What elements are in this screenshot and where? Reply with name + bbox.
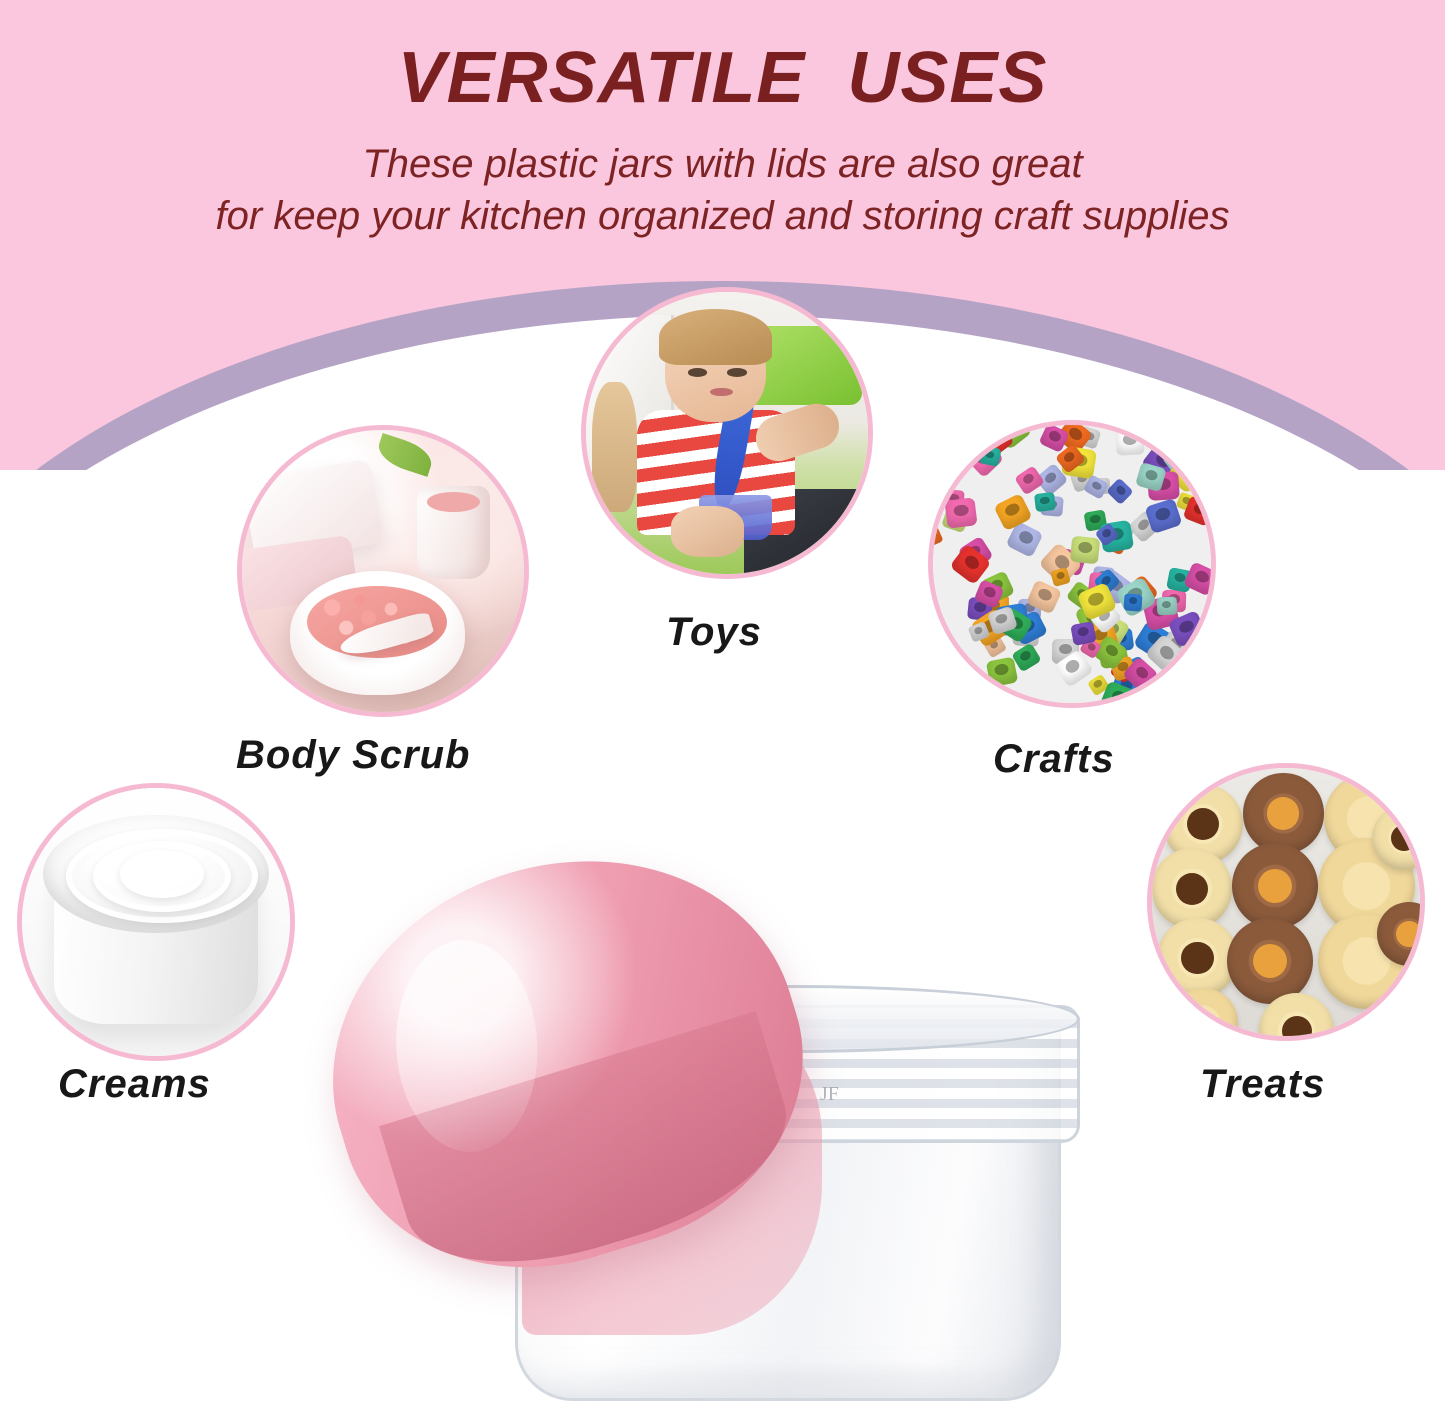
cookie (1243, 773, 1323, 853)
badge-treats (1152, 768, 1420, 1036)
craft-bead (1183, 561, 1211, 597)
craft-bead (1070, 621, 1097, 646)
cream-swirl-inner (120, 850, 204, 897)
craft-bead (978, 445, 1001, 467)
cookie-center (1391, 825, 1417, 851)
body-scrub-photo (242, 430, 524, 712)
cookie (1152, 848, 1232, 928)
crafts-beads-photo (933, 425, 1211, 703)
cream-surface-shape (43, 815, 268, 933)
badge-crafts (933, 425, 1211, 703)
cookie-center (1187, 808, 1219, 840)
badge-toys (586, 292, 868, 574)
caption-creams: Creams (58, 1062, 211, 1107)
product-jar-image: JF (300, 855, 1120, 1400)
craft-bead (1123, 593, 1142, 611)
cookie-center (1282, 1016, 1312, 1036)
craft-bead (1197, 470, 1211, 488)
cookie (1157, 918, 1237, 998)
child-mouth-shape (710, 388, 733, 396)
child-hair-shape (659, 309, 772, 365)
vase-shape (417, 486, 490, 579)
craft-bead (1011, 642, 1042, 672)
craft-bead (1070, 536, 1101, 565)
sibling-hair-shape (592, 382, 637, 512)
bowl-shape (290, 571, 465, 695)
caption-body-scrub: Body Scrub (236, 733, 470, 778)
creams-photo (22, 788, 290, 1056)
subtitle-line-2: for keep your kitchen organized and stor… (0, 190, 1445, 242)
cookie-center (1267, 797, 1299, 829)
toys-photo (586, 292, 868, 574)
caption-toys: Toys (666, 610, 762, 655)
child-eye-left (688, 368, 708, 376)
treats-cookies-photo (1152, 768, 1420, 1036)
craft-bead (1193, 648, 1211, 677)
subtitle-line-1: These plastic jars with lids are also gr… (362, 142, 1082, 186)
badge-body-scrub (242, 430, 524, 712)
page-subtitle: These plastic jars with lids are also gr… (0, 138, 1445, 242)
page-title: VERSATILE USES (0, 40, 1445, 116)
cookie (1232, 843, 1318, 929)
badge-creams (22, 788, 290, 1056)
craft-bead (1014, 465, 1044, 495)
caption-crafts: Crafts (993, 737, 1115, 782)
infographic-page: VERSATILE USES These plastic jars with l… (0, 0, 1445, 1409)
craft-bead (1156, 596, 1177, 615)
cookie-center (1181, 942, 1213, 974)
child-eye-right (727, 368, 747, 376)
caption-treats: Treats (1200, 1062, 1325, 1107)
child-arm-shape (750, 398, 844, 467)
cookie-center (1258, 869, 1292, 903)
cookie-center (1253, 944, 1287, 978)
cookie-center (1396, 921, 1420, 947)
craft-bead (1115, 428, 1145, 455)
craft-bead (1034, 492, 1056, 512)
cookie (1227, 918, 1313, 1004)
craft-bead (944, 497, 978, 528)
craft-bead (933, 526, 943, 547)
leaf-shape (374, 433, 436, 477)
craft-bead (986, 657, 1019, 688)
cookie (1168, 988, 1238, 1036)
child-hand-shape (671, 506, 744, 557)
craft-bead (933, 444, 960, 487)
cookie-center (1176, 873, 1208, 905)
craft-bead (1106, 477, 1133, 504)
craft-bead (933, 642, 943, 666)
jar-emboss-mark: JF (820, 1083, 839, 1106)
